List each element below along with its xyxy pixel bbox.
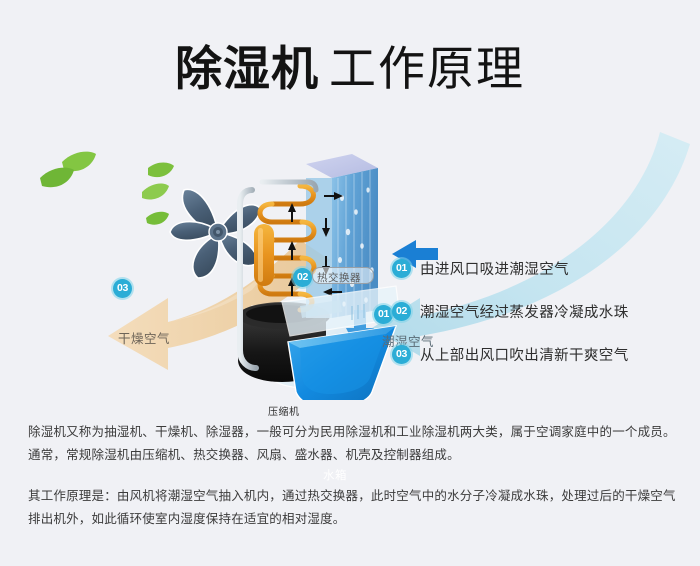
- diagram-badge-01: 01: [374, 305, 393, 324]
- description-paragraph-1: 除湿机又称为抽湿机、干燥机、除湿器，一般可分为民用除湿机和工业除湿机两大类，属于…: [28, 421, 678, 467]
- diagram-badge-03: 03: [113, 279, 132, 298]
- label-heat-exchanger: 热交换器: [317, 270, 361, 285]
- description-paragraph-2: 其工作原理是：由风机将潮湿空气抽入机内，通过热交换器，此时空气中的水分子冷凝成水…: [28, 485, 678, 531]
- steps-list: 01 由进风口吸进潮湿空气 02 潮湿空气经过蒸发器冷凝成水珠 03 从上部出风…: [392, 256, 692, 385]
- compressor-cylinder: [254, 224, 274, 286]
- step-text-03: 从上部出风口吹出清新干爽空气: [420, 344, 629, 365]
- step-badge-03: 03: [392, 345, 411, 364]
- step-badge-02: 02: [392, 302, 411, 321]
- leaf-icons: [40, 152, 174, 225]
- label-dry-air: 干燥空气: [118, 328, 170, 347]
- step-item: 02 潮湿空气经过蒸发器冷凝成水珠: [392, 299, 692, 323]
- page-title-light: 工作原理: [329, 42, 525, 95]
- step-item: 03 从上部出风口吹出清新干爽空气: [392, 342, 692, 366]
- step-text-02: 潮湿空气经过蒸发器冷凝成水珠: [420, 301, 629, 322]
- label-compressor: 压缩机: [268, 403, 300, 418]
- step-badge-01: 01: [392, 259, 411, 278]
- fan-icon: [170, 189, 260, 278]
- page-title-strong: 除湿机: [175, 42, 319, 95]
- step-text-01: 由进风口吸进潮湿空气: [420, 258, 569, 279]
- diagram-badge-02: 02: [293, 268, 312, 287]
- label-water-tank: 水箱: [323, 467, 347, 483]
- page-root: 除湿机工作原理: [0, 0, 700, 566]
- step-item: 01 由进风口吸进潮湿空气: [392, 256, 692, 280]
- page-title: 除湿机工作原理: [0, 30, 700, 99]
